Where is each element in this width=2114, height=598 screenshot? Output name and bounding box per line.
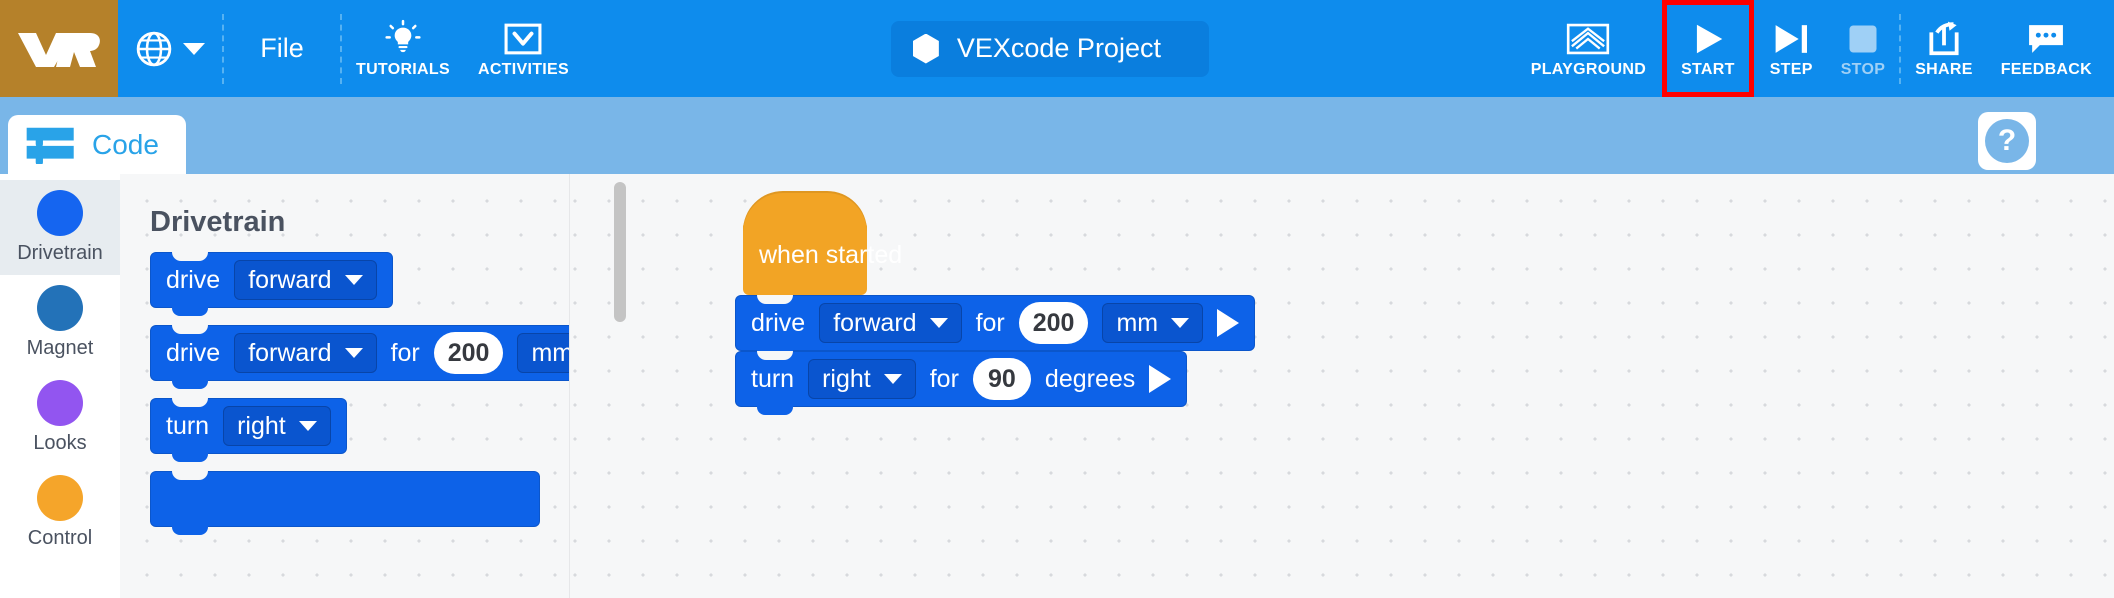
step-button[interactable]: STEP (1756, 0, 1827, 97)
direction-value: forward (248, 266, 331, 295)
play-icon (1688, 19, 1728, 59)
chevron-down-icon (345, 348, 363, 358)
block-notch (172, 471, 208, 480)
playground-icon (1566, 19, 1610, 59)
sidebar-item-looks[interactable]: Looks (0, 370, 120, 465)
main-area: Drivetrain Magnet Looks Control Drivetra… (0, 174, 2114, 598)
run-block-icon[interactable] (1217, 309, 1239, 337)
activities-button[interactable]: ACTIVITIES (464, 0, 583, 97)
toolbar-actions: PLAYGROUND START STEP (1517, 0, 2114, 97)
for-label: for (976, 309, 1005, 338)
sidebar-item-label: Looks (33, 432, 86, 455)
for-label: for (930, 365, 959, 394)
chevron-down-icon (299, 421, 317, 431)
direction-value: forward (833, 309, 916, 338)
palette-block-drive-for[interactable]: drive forward for 200 mm (150, 325, 570, 381)
sidebar-item-label: Drivetrain (17, 242, 103, 265)
unit-dropdown[interactable]: mm (1102, 303, 1203, 343)
project-name-button[interactable]: VEXcode Project (891, 21, 1209, 77)
chevron-down-icon (345, 275, 363, 285)
sidebar-item-label: Control (28, 527, 92, 550)
tutorials-button[interactable]: TUTORIALS (342, 0, 464, 97)
block-notch (757, 351, 793, 360)
playground-label: PLAYGROUND (1531, 61, 1646, 79)
feedback-label: FEEDBACK (2001, 61, 2092, 79)
globe-icon (135, 30, 173, 68)
direction-dropdown[interactable]: forward (234, 260, 376, 300)
sidebar-item-magnet[interactable]: Magnet (0, 275, 120, 370)
code-blocks-icon (24, 126, 80, 164)
block-verb-label: turn (166, 412, 209, 441)
step-label: STEP (1770, 61, 1813, 79)
step-icon (1771, 19, 1811, 59)
feedback-icon (2026, 19, 2066, 59)
unit-value: mm (1116, 309, 1158, 338)
file-menu-button[interactable]: File (224, 0, 340, 97)
direction-dropdown[interactable]: forward (234, 333, 376, 373)
workspace-hat-block[interactable]: when started (743, 221, 867, 295)
vr-logo-mark (16, 29, 102, 69)
sidebar-item-label: Magnet (27, 337, 94, 360)
block-verb-label: drive (751, 309, 805, 338)
palette-block-partial[interactable] (150, 471, 540, 527)
control-dot-icon (37, 475, 83, 521)
activities-icon (503, 19, 543, 59)
direction-dropdown[interactable]: right (223, 406, 331, 446)
project-name-area: VEXcode Project (583, 0, 1517, 97)
block-verb-label: drive (166, 339, 220, 368)
help-button[interactable]: ? (1978, 112, 2036, 170)
tutorials-label: TUTORIALS (356, 61, 450, 79)
hat-top-curve (743, 191, 867, 231)
palette-section-title: Drivetrain (150, 206, 285, 239)
direction-value: forward (248, 339, 331, 368)
start-button[interactable]: START (1662, 0, 1754, 97)
magnet-dot-icon (37, 285, 83, 331)
block-notch (172, 325, 208, 334)
stop-button[interactable]: STOP (1827, 0, 1899, 97)
chevron-down-icon (930, 318, 948, 328)
category-sidebar: Drivetrain Magnet Looks Control (0, 174, 120, 598)
palette-block-drive[interactable]: drive forward (150, 252, 393, 308)
direction-value: right (237, 412, 286, 441)
feedback-button[interactable]: FEEDBACK (1987, 0, 2106, 97)
tab-strip: Code ? (0, 97, 2114, 174)
unit-dropdown[interactable]: mm (517, 333, 570, 373)
share-icon (1925, 19, 1963, 59)
direction-value: right (822, 365, 871, 394)
drivetrain-dot-icon (37, 190, 83, 236)
top-toolbar: File TUTORIALS (0, 0, 2114, 97)
unit-value: mm (531, 339, 570, 368)
playground-button[interactable]: PLAYGROUND (1517, 0, 1660, 97)
looks-dot-icon (37, 380, 83, 426)
stop-icon (1845, 19, 1881, 59)
sidebar-item-control[interactable]: Control (0, 465, 120, 560)
block-notch (757, 295, 793, 304)
activities-label: ACTIVITIES (478, 61, 569, 79)
block-verb-label: turn (751, 365, 794, 394)
tab-code-label: Code (92, 129, 159, 161)
vr-logo (0, 0, 118, 97)
code-workspace[interactable]: when started drive forward for 200 mm tu… (570, 174, 2114, 598)
stop-label: STOP (1841, 61, 1885, 79)
direction-dropdown[interactable]: right (808, 359, 916, 399)
hexagon-icon (913, 34, 939, 64)
direction-dropdown[interactable]: forward (819, 303, 961, 343)
hat-block-label: when started (759, 241, 902, 270)
workspace-scrollbar[interactable] (614, 182, 626, 322)
block-verb-label: drive (166, 266, 220, 295)
block-notch (172, 398, 208, 407)
start-label: START (1681, 61, 1735, 79)
workspace-block-drive[interactable]: drive forward for 200 mm (735, 295, 1255, 351)
unit-label: degrees (1045, 365, 1135, 394)
lightbulb-icon (383, 19, 423, 59)
share-label: SHARE (1915, 61, 1973, 79)
project-name-label: VEXcode Project (957, 33, 1161, 64)
amount-input[interactable]: 90 (973, 358, 1031, 400)
sidebar-item-drivetrain[interactable]: Drivetrain (0, 180, 120, 275)
for-label: for (391, 339, 420, 368)
amount-input[interactable]: 200 (434, 332, 504, 374)
file-menu-label: File (260, 33, 304, 64)
workspace-block-turn[interactable]: turn right for 90 degrees (735, 351, 1187, 407)
tab-code[interactable]: Code (8, 115, 186, 174)
palette-block-turn[interactable]: turn right (150, 398, 347, 454)
chevron-down-icon (1171, 318, 1189, 328)
run-block-icon[interactable] (1149, 365, 1171, 393)
chevron-down-icon (884, 374, 902, 384)
chevron-down-icon (183, 43, 205, 55)
block-notch (172, 252, 208, 261)
share-button[interactable]: SHARE (1901, 0, 1987, 97)
language-selector[interactable] (118, 0, 222, 97)
question-mark-icon: ? (1985, 119, 2029, 163)
amount-input[interactable]: 200 (1019, 302, 1089, 344)
block-palette[interactable]: Drivetrain drive forward drive forward f… (120, 174, 570, 598)
